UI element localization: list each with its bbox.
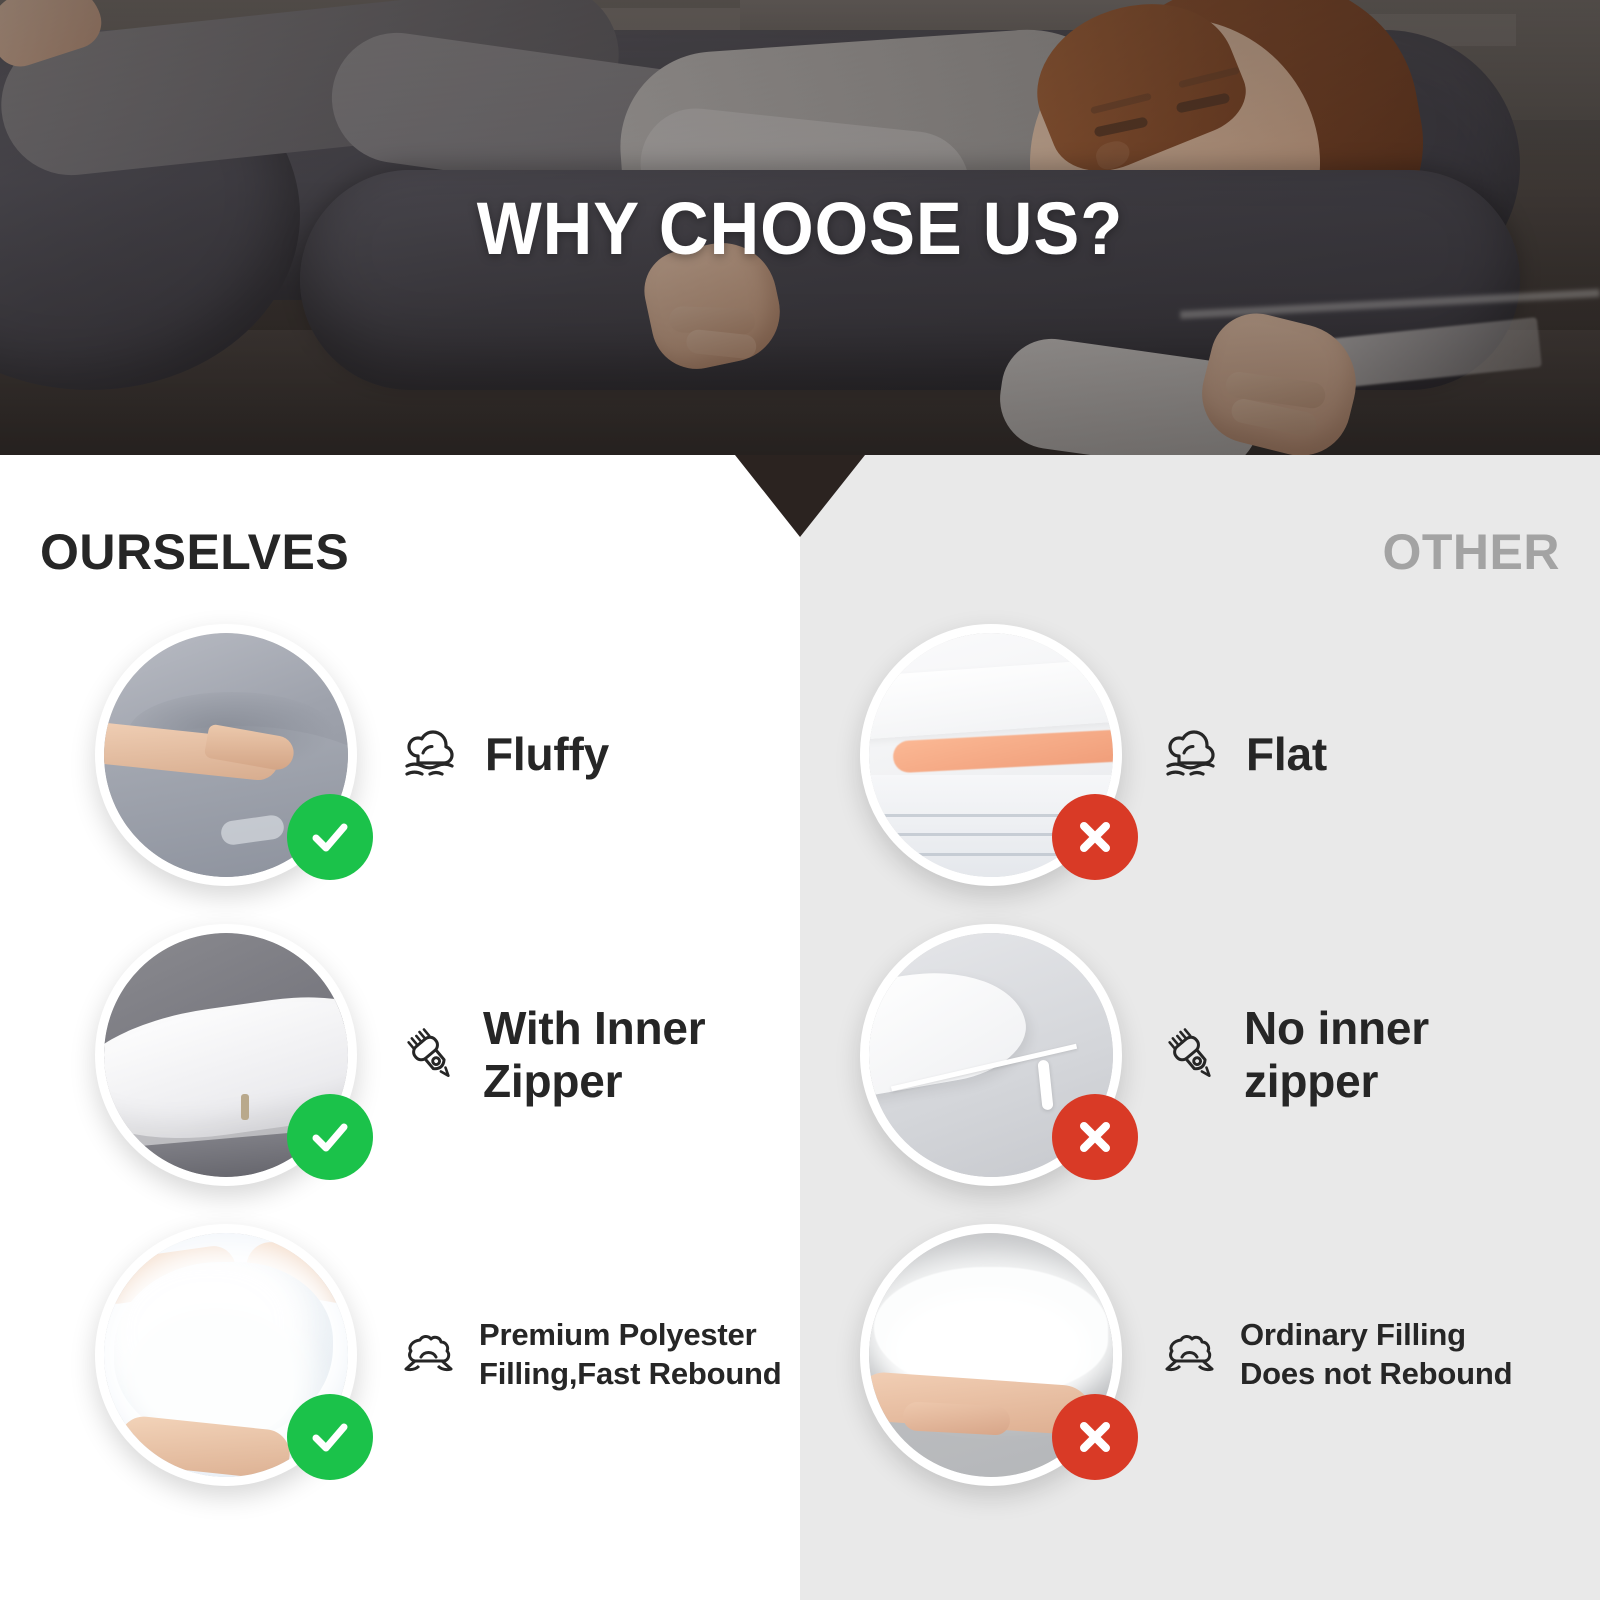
feature-label: No inner zipper xyxy=(1244,1002,1429,1109)
feature-label: Ordinary Filling Does not Rebound xyxy=(1240,1316,1512,1394)
column-heading-ourselves: OURSELVES xyxy=(40,523,349,581)
thumbnail-wrap xyxy=(860,924,1122,1186)
fluffy-cloud-icon xyxy=(1162,728,1224,782)
check-icon xyxy=(287,1394,373,1480)
infographic-page: WHY CHOOSE US? OURSELVES xyxy=(0,0,1600,1600)
feature-label: Flat xyxy=(1246,728,1327,781)
feature-row: With Inner Zipper xyxy=(0,905,800,1205)
thumbnail-wrap xyxy=(95,624,357,886)
check-icon xyxy=(287,794,373,880)
feature-label-line2: Zipper xyxy=(483,1055,622,1107)
zipper-pull-icon xyxy=(401,1025,461,1085)
feature-text: Ordinary Filling Does not Rebound xyxy=(1162,1316,1512,1394)
column-ourselves: OURSELVES xyxy=(0,455,800,1600)
feature-label-line1: No inner xyxy=(1244,1002,1429,1054)
feature-text: With Inner Zipper xyxy=(401,1002,705,1109)
feature-row: Flat xyxy=(800,605,1600,905)
thumbnail-wrap xyxy=(860,624,1122,886)
feature-label-line2: Does not Rebound xyxy=(1240,1356,1512,1391)
feature-label: Fluffy xyxy=(485,728,609,781)
feature-rows-right: Flat xyxy=(800,605,1600,1505)
feature-label-line1: Premium Polyester xyxy=(479,1317,756,1352)
feature-rows-left: Fluffy xyxy=(0,605,800,1505)
column-other: OTHER xyxy=(800,455,1600,1600)
cross-icon xyxy=(1052,1094,1138,1180)
feature-label-line2: Filling,Fast Rebound xyxy=(479,1356,782,1391)
comparison-section: OURSELVES xyxy=(0,455,1600,1600)
feature-label-line1: With Inner xyxy=(483,1002,705,1054)
thumbnail-wrap xyxy=(95,1224,357,1486)
feature-label-line2: zipper xyxy=(1244,1055,1378,1107)
feature-text: Flat xyxy=(1162,728,1327,782)
thumbnail-wrap xyxy=(860,1224,1122,1486)
column-heading-other: OTHER xyxy=(1383,523,1561,581)
feature-text: Fluffy xyxy=(401,728,609,782)
feature-row: Ordinary Filling Does not Rebound xyxy=(800,1205,1600,1505)
feature-text: Premium Polyester Filling,Fast Rebound xyxy=(401,1316,782,1394)
fiber-fill-icon xyxy=(1162,1330,1218,1380)
divider-notch-icon xyxy=(735,455,865,537)
fiber-fill-icon xyxy=(401,1330,457,1380)
feature-label-line1: Ordinary Filling xyxy=(1240,1317,1466,1352)
hero-banner: WHY CHOOSE US? xyxy=(0,0,1600,455)
page-title: WHY CHOOSE US? xyxy=(56,186,1544,271)
feature-row: No inner zipper xyxy=(800,905,1600,1205)
feature-row: Premium Polyester Filling,Fast Rebound xyxy=(0,1205,800,1505)
zipper-pull-icon xyxy=(1162,1025,1222,1085)
feature-text: No inner zipper xyxy=(1162,1002,1429,1109)
feature-label: With Inner Zipper xyxy=(483,1002,705,1109)
cross-icon xyxy=(1052,1394,1138,1480)
fluffy-cloud-icon xyxy=(401,728,463,782)
check-icon xyxy=(287,1094,373,1180)
cross-icon xyxy=(1052,794,1138,880)
thumbnail-wrap xyxy=(95,924,357,1186)
feature-row: Fluffy xyxy=(0,605,800,905)
feature-label: Premium Polyester Filling,Fast Rebound xyxy=(479,1316,782,1394)
